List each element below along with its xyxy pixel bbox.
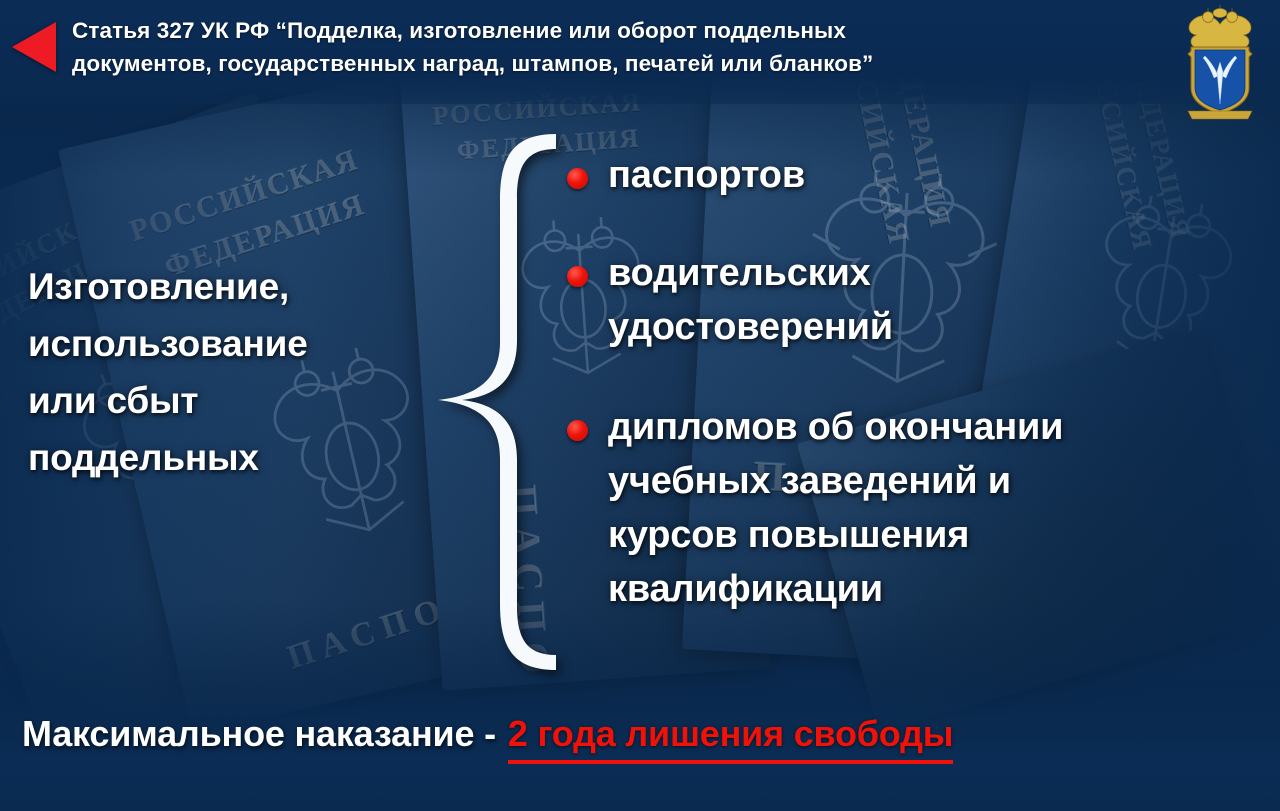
bullet-dot-icon — [567, 168, 588, 189]
list-item: паспортов — [560, 148, 1270, 202]
penalty-value: 2 года лишения свободы — [508, 713, 953, 764]
list-item-line: водительских — [608, 246, 1270, 300]
left-statement-line-4: поддельных — [28, 429, 428, 486]
list-item-line: удостоверений — [608, 300, 1270, 354]
left-statement: Изготовление, использование или сбыт под… — [28, 258, 428, 486]
list-item-line: учебных заведений и — [608, 454, 1270, 508]
page-title-line-2: документов, государственных наград, штам… — [72, 47, 1162, 80]
left-statement-line-1: Изготовление, — [28, 258, 428, 315]
list-item-line: дипломов об окончании — [608, 400, 1270, 454]
triangle-left-icon[interactable] — [12, 22, 56, 72]
list-item-line: квалификации — [608, 562, 1270, 616]
list-item-line: паспортов — [608, 148, 1270, 202]
list-item-line: курсов повышения — [608, 508, 1270, 562]
footer-bar: Максимальное наказание -2 года лишения с… — [0, 699, 1280, 811]
page-title-line-1: Статья 327 УК РФ “Подделка, изготовление… — [72, 14, 1162, 47]
left-statement-line-3: или сбыт — [28, 372, 428, 429]
left-statement-line-2: использование — [28, 315, 428, 372]
bullet-dot-icon — [567, 266, 588, 287]
list-item: водительских удостоверений — [560, 246, 1270, 354]
footer-content: Максимальное наказание -2 года лишения с… — [22, 713, 1272, 764]
bullet-dot-icon — [567, 420, 588, 441]
header-bar: Статья 327 УК РФ “Подделка, изготовление… — [0, 0, 1280, 104]
list-item: дипломов об окончании учебных заведений … — [560, 400, 1270, 616]
penalty-label: Максимальное наказание - — [22, 713, 496, 755]
poster-root: РОССИЙСКАЯ ФЕДЕРАЦИЯ РОССИЙСКАЯ ФЕДЕРАЦИ… — [0, 0, 1280, 811]
mvd-emblem — [1178, 4, 1262, 124]
bullet-list: паспортов водительских удостоверений дип… — [560, 148, 1270, 616]
page-title: Статья 327 УК РФ “Подделка, изготовление… — [72, 14, 1162, 80]
